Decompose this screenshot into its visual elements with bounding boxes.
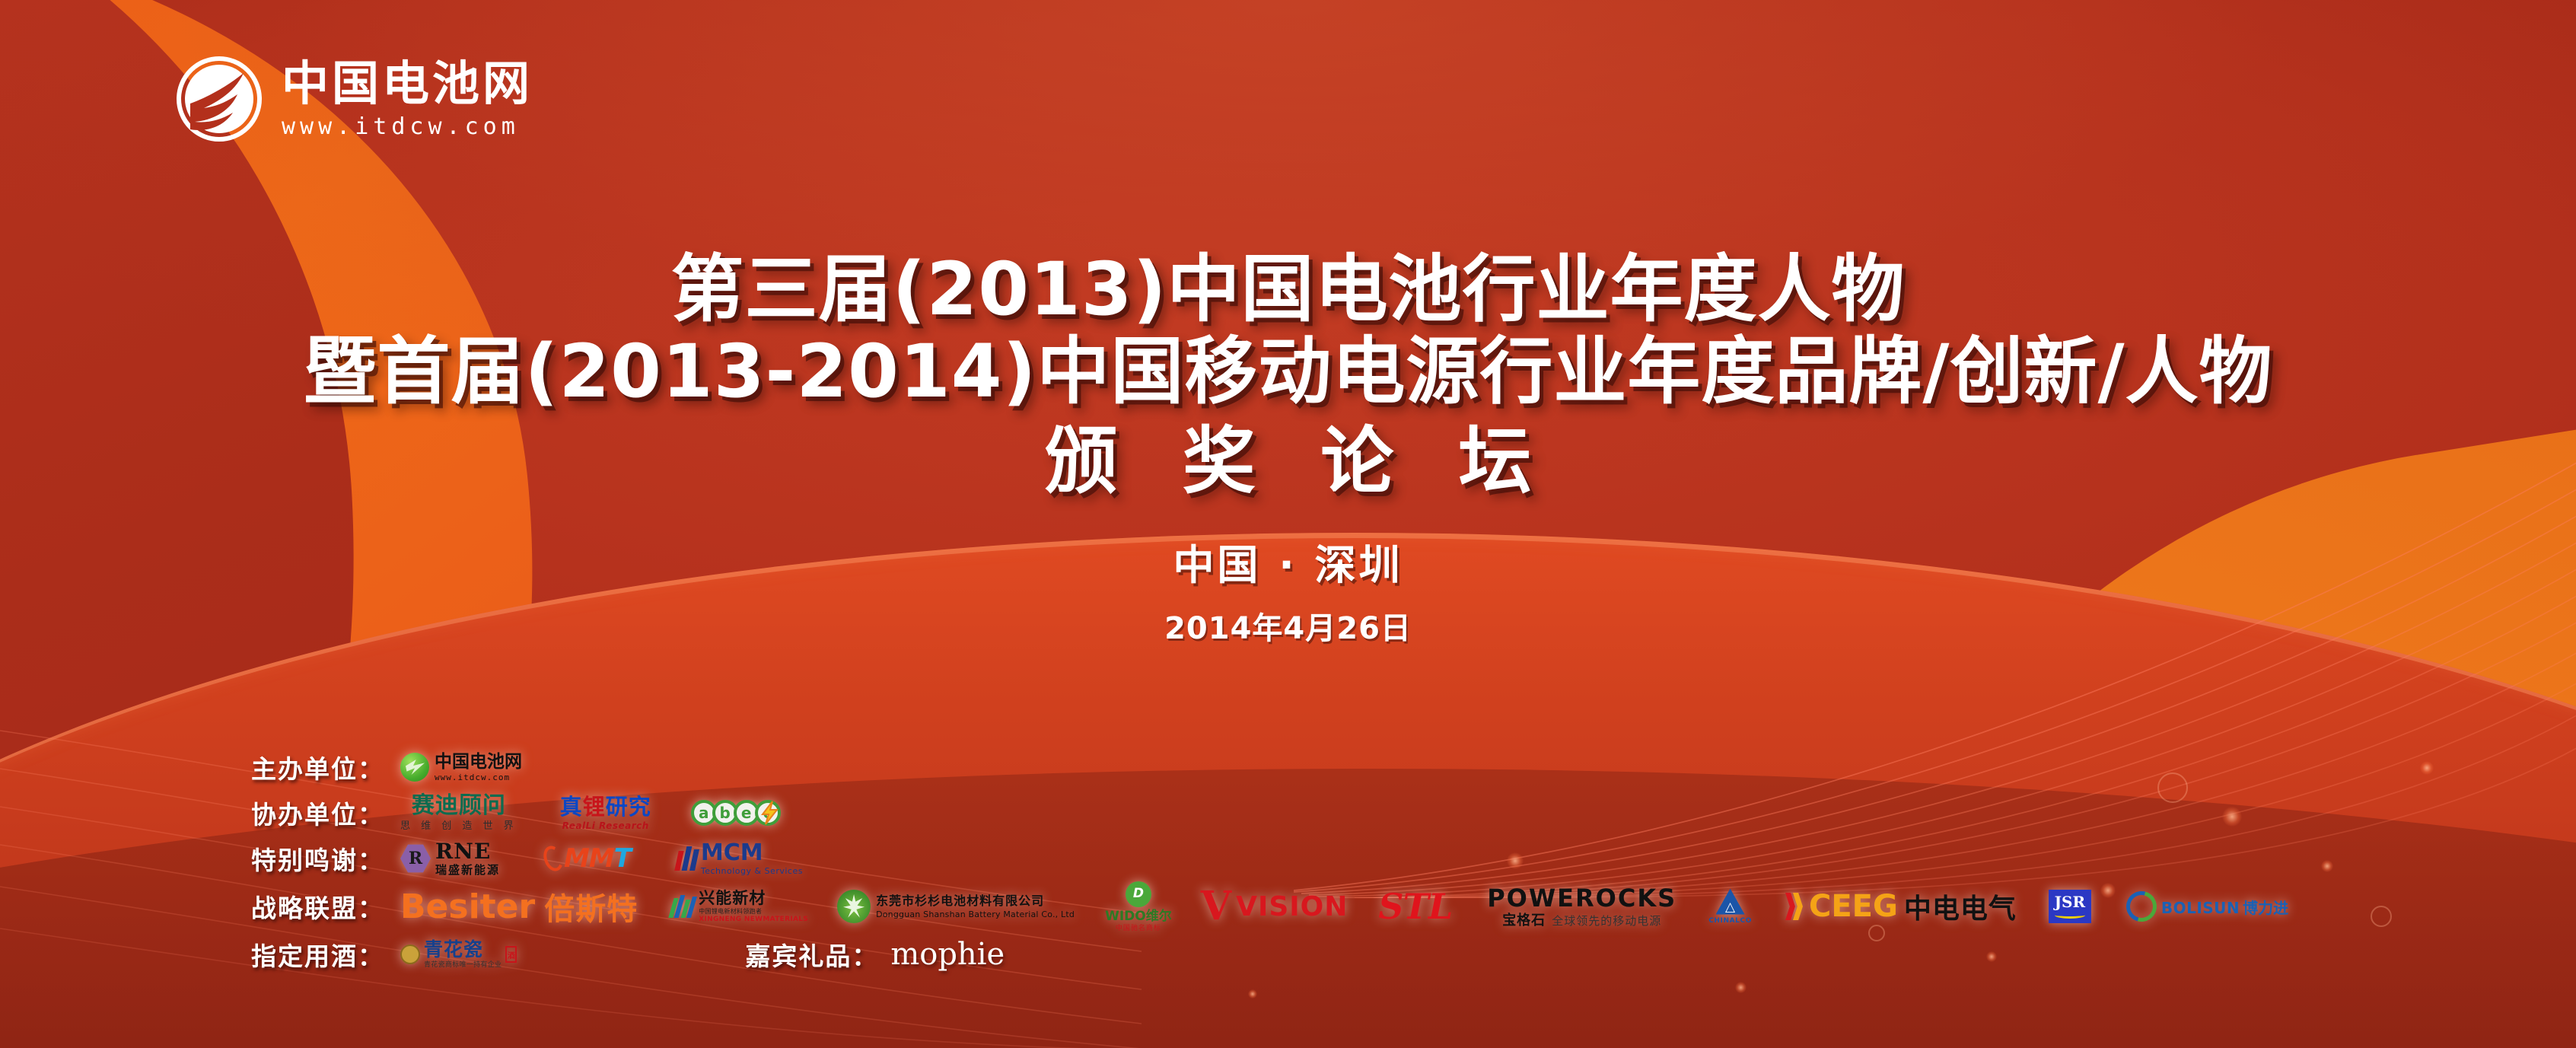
abec-lightning-bolt-icon bbox=[756, 800, 782, 826]
powerocks-name-en: POWEROCKS bbox=[1487, 886, 1676, 910]
sponsor-logo-powerocks[interactable]: POWEROCKS 宝格石 全球领先的移动电源 bbox=[1487, 886, 1676, 928]
sponsor-row-strategic-alliance: 战略联盟： Besiter 倍斯特 兴能新材 中国锂电新材料领跑者 XINGNE… bbox=[251, 881, 2288, 932]
guest-gift-label: 嘉宾礼品： bbox=[745, 936, 878, 973]
event-date: 2014年4月26日 bbox=[0, 604, 2576, 648]
chinalco-triangle-icon: △ bbox=[1716, 889, 1745, 915]
sponsor-logo-list: R RNE 瑞盛新能源 MMT MCM Technology & Service… bbox=[400, 841, 803, 876]
wido-circle-icon: D bbox=[1126, 881, 1151, 907]
sponsor-row-label: 战略联盟： bbox=[251, 888, 400, 925]
xingneng-bars-icon bbox=[671, 895, 694, 918]
qinghuaci-box-char: 酒 bbox=[505, 946, 517, 963]
rne-name-en: RNE bbox=[435, 841, 500, 862]
sponsor-logo-saidi[interactable]: 赛迪顾问 思 维 创 造 世 界 bbox=[400, 795, 517, 831]
saidi-name-cn: 赛迪顾问 bbox=[412, 795, 506, 817]
sponsor-section: 主办单位： 中国电池网 www.itdcw.com 协办单位： 赛迪顾问 思 维… bbox=[251, 744, 2288, 977]
sponsor-logo-wido[interactable]: D WIDO维尔 中国驰名商标 bbox=[1105, 881, 1172, 932]
brand-url: www.itdcw.com bbox=[282, 116, 533, 139]
sponsor-row-coorganizer: 协办单位： 赛迪顾问 思 维 创 造 世 界 真锂研究 RealLi Resea… bbox=[251, 790, 2288, 836]
jsr-name-en: JSR bbox=[2055, 894, 2086, 909]
sponsor-logo-realli[interactable]: 真锂研究 RealLi Research bbox=[560, 796, 651, 830]
itdcw-name-cn: 中国电池网 bbox=[435, 753, 522, 771]
title-line-1: 第三届(2013)中国电池行业年度人物 bbox=[0, 251, 2576, 329]
sponsor-row-label: 协办单位： bbox=[251, 795, 400, 831]
event-city: 中国 · 深圳 bbox=[0, 531, 2576, 591]
realli-char-1: 真 bbox=[560, 794, 583, 820]
bokeh-dot bbox=[2321, 860, 2333, 872]
shanshan-name-cn: 东莞市杉杉电池材料有限公司 bbox=[876, 895, 1075, 907]
bokeh-dot bbox=[1248, 989, 1257, 999]
bokeh-dot bbox=[1735, 982, 1747, 993]
sponsor-logo-ceeg[interactable]: CEEG 中电电气 bbox=[1785, 887, 2017, 926]
sponsor-logo-abec[interactable]: a b e c bbox=[691, 800, 776, 826]
sponsor-row-designated-liquor: 指定用酒： 青花瓷 青花瓷商标唯一持有企业 酒 嘉宾礼品： mophie bbox=[251, 932, 2288, 977]
bolisun-ring-icon bbox=[2121, 886, 2163, 928]
rne-hex-icon: R bbox=[400, 843, 431, 874]
bolisun-name-en: BOLISUN bbox=[2161, 899, 2240, 917]
shanshan-name-en: Dongguan Shanshan Battery Material Co., … bbox=[876, 910, 1075, 919]
itdcw-url: www.itdcw.com bbox=[435, 773, 522, 782]
title-block: 第三届(2013)中国电池行业年度人物 暨首届(2013-2014)中国移动电源… bbox=[0, 251, 2576, 648]
xingneng-name-cn: 兴能新材 bbox=[699, 890, 808, 906]
shanshan-leaf-icon bbox=[837, 890, 871, 923]
sponsor-logo-jsr[interactable]: JSR bbox=[2049, 890, 2091, 923]
bokeh-dot bbox=[2420, 761, 2434, 775]
guest-gift-block: 嘉宾礼品： mophie bbox=[745, 936, 1005, 973]
sponsor-logo-list: 赛迪顾问 思 维 创 造 世 界 真锂研究 RealLi Research a … bbox=[400, 795, 776, 831]
mmt-name-part1: MM bbox=[564, 843, 614, 874]
xingneng-name-en: XINGNENG NEWMATERIALS bbox=[699, 916, 808, 923]
mcm-name-en: MCM bbox=[701, 842, 803, 865]
sponsor-logo-bolisun[interactable]: BOLISUN 博力进 bbox=[2126, 891, 2288, 922]
sponsor-logo-itdcw[interactable]: 中国电池网 www.itdcw.com bbox=[400, 753, 522, 782]
bokeh-ring bbox=[2371, 906, 2392, 927]
powerocks-tagline: 全球领先的移动电源 bbox=[1552, 916, 1661, 927]
event-backdrop-poster: 中国电池网 www.itdcw.com 第三届(2013)中国电池行业年度人物 … bbox=[0, 0, 2576, 1048]
brand-logo-header: 中国电池网 www.itdcw.com bbox=[174, 53, 533, 145]
sponsor-logo-qinghuaci[interactable]: 青花瓷 青花瓷商标唯一持有企业 酒 bbox=[400, 940, 517, 969]
sponsor-logo-list: 中国电池网 www.itdcw.com bbox=[400, 753, 522, 782]
realli-name-en: RealLi Research bbox=[562, 821, 649, 830]
sponsor-logo-list: Besiter 倍斯特 兴能新材 中国锂电新材料领跑者 XINGNENG NEW… bbox=[400, 881, 2288, 932]
mmt-arc-icon bbox=[540, 843, 566, 874]
qinghuaci-seal-icon bbox=[400, 944, 420, 964]
sponsor-row-label: 主办单位： bbox=[251, 749, 400, 785]
chinalco-name-en: CHINALCO bbox=[1708, 918, 1752, 925]
ceeg-chevron-icon bbox=[1785, 893, 1803, 920]
sponsor-row-label: 特别鸣谢： bbox=[251, 840, 400, 877]
besiter-name-en: Besiter bbox=[400, 887, 535, 926]
vision-name-en: VISION bbox=[1236, 891, 1348, 922]
mmt-name-part2: T bbox=[614, 843, 631, 874]
title-line-2: 暨首届(2013-2014)中国移动电源行业年度品牌/创新/人物 bbox=[0, 329, 2576, 415]
rne-name-cn: 瑞盛新能源 bbox=[435, 865, 500, 876]
sponsor-row-organizer: 主办单位： 中国电池网 www.itdcw.com bbox=[251, 744, 2288, 790]
title-line-3: 颁 奖 论 坛 bbox=[0, 415, 2576, 508]
mcm-bars-icon bbox=[677, 846, 697, 871]
itdcw-globe-icon bbox=[400, 753, 429, 782]
xingneng-sub-cn: 中国锂电新材料领跑者 bbox=[699, 909, 808, 915]
sponsor-logo-chinalco[interactable]: △ CHINALCO bbox=[1708, 889, 1752, 925]
qinghuaci-name-cn: 青花瓷 bbox=[424, 940, 502, 959]
vision-v-mark: V bbox=[1201, 890, 1231, 922]
sponsor-logo-xingneng[interactable]: 兴能新材 中国锂电新材料领跑者 XINGNENG NEWMATERIALS bbox=[671, 890, 808, 923]
powerocks-name-cn: 宝格石 bbox=[1502, 914, 1546, 928]
globe-swoosh-icon bbox=[174, 53, 265, 145]
realli-char-3: 研究 bbox=[606, 794, 651, 820]
besiter-name-cn: 倍斯特 bbox=[544, 884, 638, 929]
wido-name-en: WIDO维尔 bbox=[1105, 910, 1172, 923]
sponsor-logo-stl[interactable]: STL bbox=[1378, 886, 1452, 927]
saidi-tagline: 思 维 创 造 世 界 bbox=[400, 821, 517, 831]
wido-sub-cn: 中国驰名商标 bbox=[1116, 925, 1161, 932]
guest-gift-brand: mophie bbox=[890, 937, 1005, 972]
qinghuaci-sub-cn: 青花瓷商标唯一持有企业 bbox=[424, 962, 502, 969]
sponsor-logo-rne[interactable]: R RNE 瑞盛新能源 bbox=[400, 841, 500, 876]
sponsor-logo-besiter[interactable]: Besiter 倍斯特 bbox=[400, 884, 638, 929]
realli-char-2: 锂 bbox=[583, 794, 606, 820]
sponsor-logo-vision[interactable]: V VISION bbox=[1201, 890, 1348, 922]
mcm-tagline: Technology & Services bbox=[701, 867, 803, 875]
brand-name-cn: 中国电池网 bbox=[282, 60, 533, 107]
ceeg-name-cn: 中电电气 bbox=[1904, 887, 2017, 926]
sponsor-logo-shanshan[interactable]: 东莞市杉杉电池材料有限公司 Dongguan Shanshan Battery … bbox=[837, 890, 1075, 923]
ceeg-name-en: CEEG bbox=[1809, 889, 1898, 924]
sponsor-logo-mmt[interactable]: MMT bbox=[544, 843, 631, 874]
sponsor-row-label: 指定用酒： bbox=[251, 936, 400, 973]
jsr-curve-icon bbox=[2055, 912, 2085, 919]
sponsor-logo-list: 青花瓷 青花瓷商标唯一持有企业 酒 bbox=[400, 940, 517, 969]
sponsor-row-special-thanks: 特别鸣谢： R RNE 瑞盛新能源 MMT MCM bbox=[251, 836, 2288, 881]
sponsor-logo-mcm[interactable]: MCM Technology & Services bbox=[677, 842, 803, 875]
bolisun-name-cn: 博力进 bbox=[2243, 896, 2288, 918]
